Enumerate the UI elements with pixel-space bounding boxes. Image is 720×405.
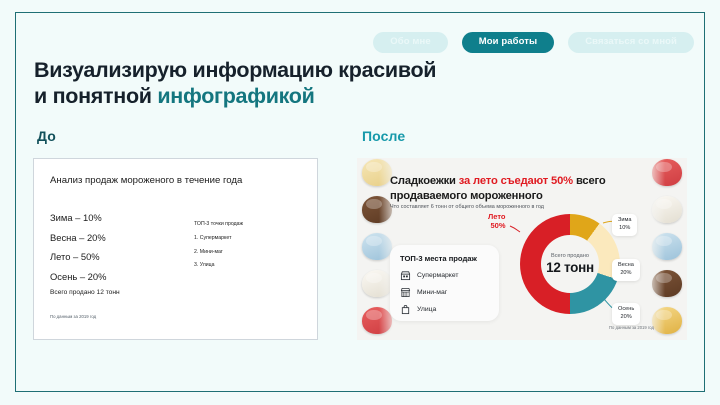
list-item: Весна – 20% <box>50 232 106 243</box>
section-label-after: После <box>362 128 405 144</box>
after-infographic-card: Сладкоежки за лето съедают 50% всего про… <box>357 158 687 340</box>
donut-center-value: 12 тонн <box>546 260 594 275</box>
headline-accent-word: инфографикой <box>157 84 314 108</box>
nav-item-contact[interactable]: Связаться со мной <box>568 32 694 53</box>
section-label-before: До <box>37 128 56 144</box>
donut-label-leto: Лето 50% <box>488 212 506 231</box>
donut-callout-osen: Осень 20% <box>612 303 640 325</box>
infographic-title-part1: Сладкоежки <box>390 175 459 187</box>
donut-callout-vesna: Весна 20% <box>612 259 640 281</box>
callout-value: 20% <box>618 314 634 322</box>
infographic-title: Сладкоежки за лето съедают 50% всего про… <box>390 174 640 204</box>
before-card: Анализ продаж мороженого в течение года … <box>33 158 318 340</box>
list-item: Супермаркет <box>400 270 489 281</box>
list-item: Улица <box>400 304 489 315</box>
infographic-note: По данным за 2019 год <box>609 325 654 330</box>
slide-canvas: Обо мне Мои работы Связаться со мной Виз… <box>0 0 720 405</box>
nav-item-about[interactable]: Обо мне <box>373 32 447 53</box>
donut-center-caption: Всего продано <box>551 253 589 259</box>
top3-places-card: ТОП-3 места продаж Супермаркет <box>390 245 499 321</box>
list-item: Зима – 10% <box>50 212 106 223</box>
list-item: Лето – 50% <box>50 251 106 262</box>
list-item: 3. Улица <box>194 262 304 268</box>
top3-title: ТОП-3 места продаж <box>400 254 489 263</box>
list-item: Мини-маг <box>400 287 489 298</box>
callout-value: 10% <box>618 225 631 233</box>
before-top3-block: ТОП-3 точки продаж 1. Супермаркет 2. Мин… <box>194 221 304 276</box>
before-total: Всего продано 12 тонн <box>50 289 120 296</box>
list-item: 2. Мини-маг <box>194 249 304 255</box>
infographic-subtitle: Что составляет 6 тонн от общего объема м… <box>390 204 640 210</box>
donut-chart: Всего продано 12 тонн <box>520 214 620 314</box>
headline-line-1: Визуализирую информацию красивой <box>34 57 436 83</box>
before-note: По данным за 2019 год <box>50 314 96 319</box>
infographic-title-accent: за лето съедают 50% <box>459 175 573 187</box>
market-stall-icon <box>400 287 411 298</box>
top3-item-label: Мини-маг <box>417 289 447 296</box>
before-top3-title: ТОП-3 точки продаж <box>194 221 304 227</box>
top3-item-label: Супермаркет <box>417 272 459 279</box>
callout-name: Зима <box>618 217 631 225</box>
headline-line-2-plain: и понятной <box>34 84 157 108</box>
before-top3-list: 1. Супермаркет 2. Мини-маг 3. Улица <box>194 235 304 268</box>
callout-name: Весна <box>618 262 634 270</box>
shopping-bag-icon <box>400 304 411 315</box>
donut-callout-zima: Зима 10% <box>612 214 637 236</box>
top3-item-label: Улица <box>417 306 436 313</box>
list-item: Осень – 20% <box>50 271 106 282</box>
before-title: Анализ продаж мороженого в течение года <box>50 174 290 189</box>
callout-name: Осень <box>618 306 634 314</box>
top-navigation: Обо мне Мои работы Связаться со мной <box>0 32 720 53</box>
callout-value: 20% <box>618 270 634 278</box>
donut-center-label: Всего продано 12 тонн <box>520 214 620 314</box>
donut-label-leto-value: 50% <box>488 221 506 230</box>
headline-line-2: и понятной инфографикой <box>34 83 436 109</box>
before-season-list: Зима – 10% Весна – 20% Лето – 50% Осень … <box>50 212 106 282</box>
page-title: Визуализирую информацию красивой и понят… <box>34 57 436 109</box>
storefront-icon <box>400 270 411 281</box>
list-item: 1. Супермаркет <box>194 235 304 241</box>
donut-label-leto-name: Лето <box>488 212 506 221</box>
nav-item-works[interactable]: Мои работы <box>462 32 554 53</box>
